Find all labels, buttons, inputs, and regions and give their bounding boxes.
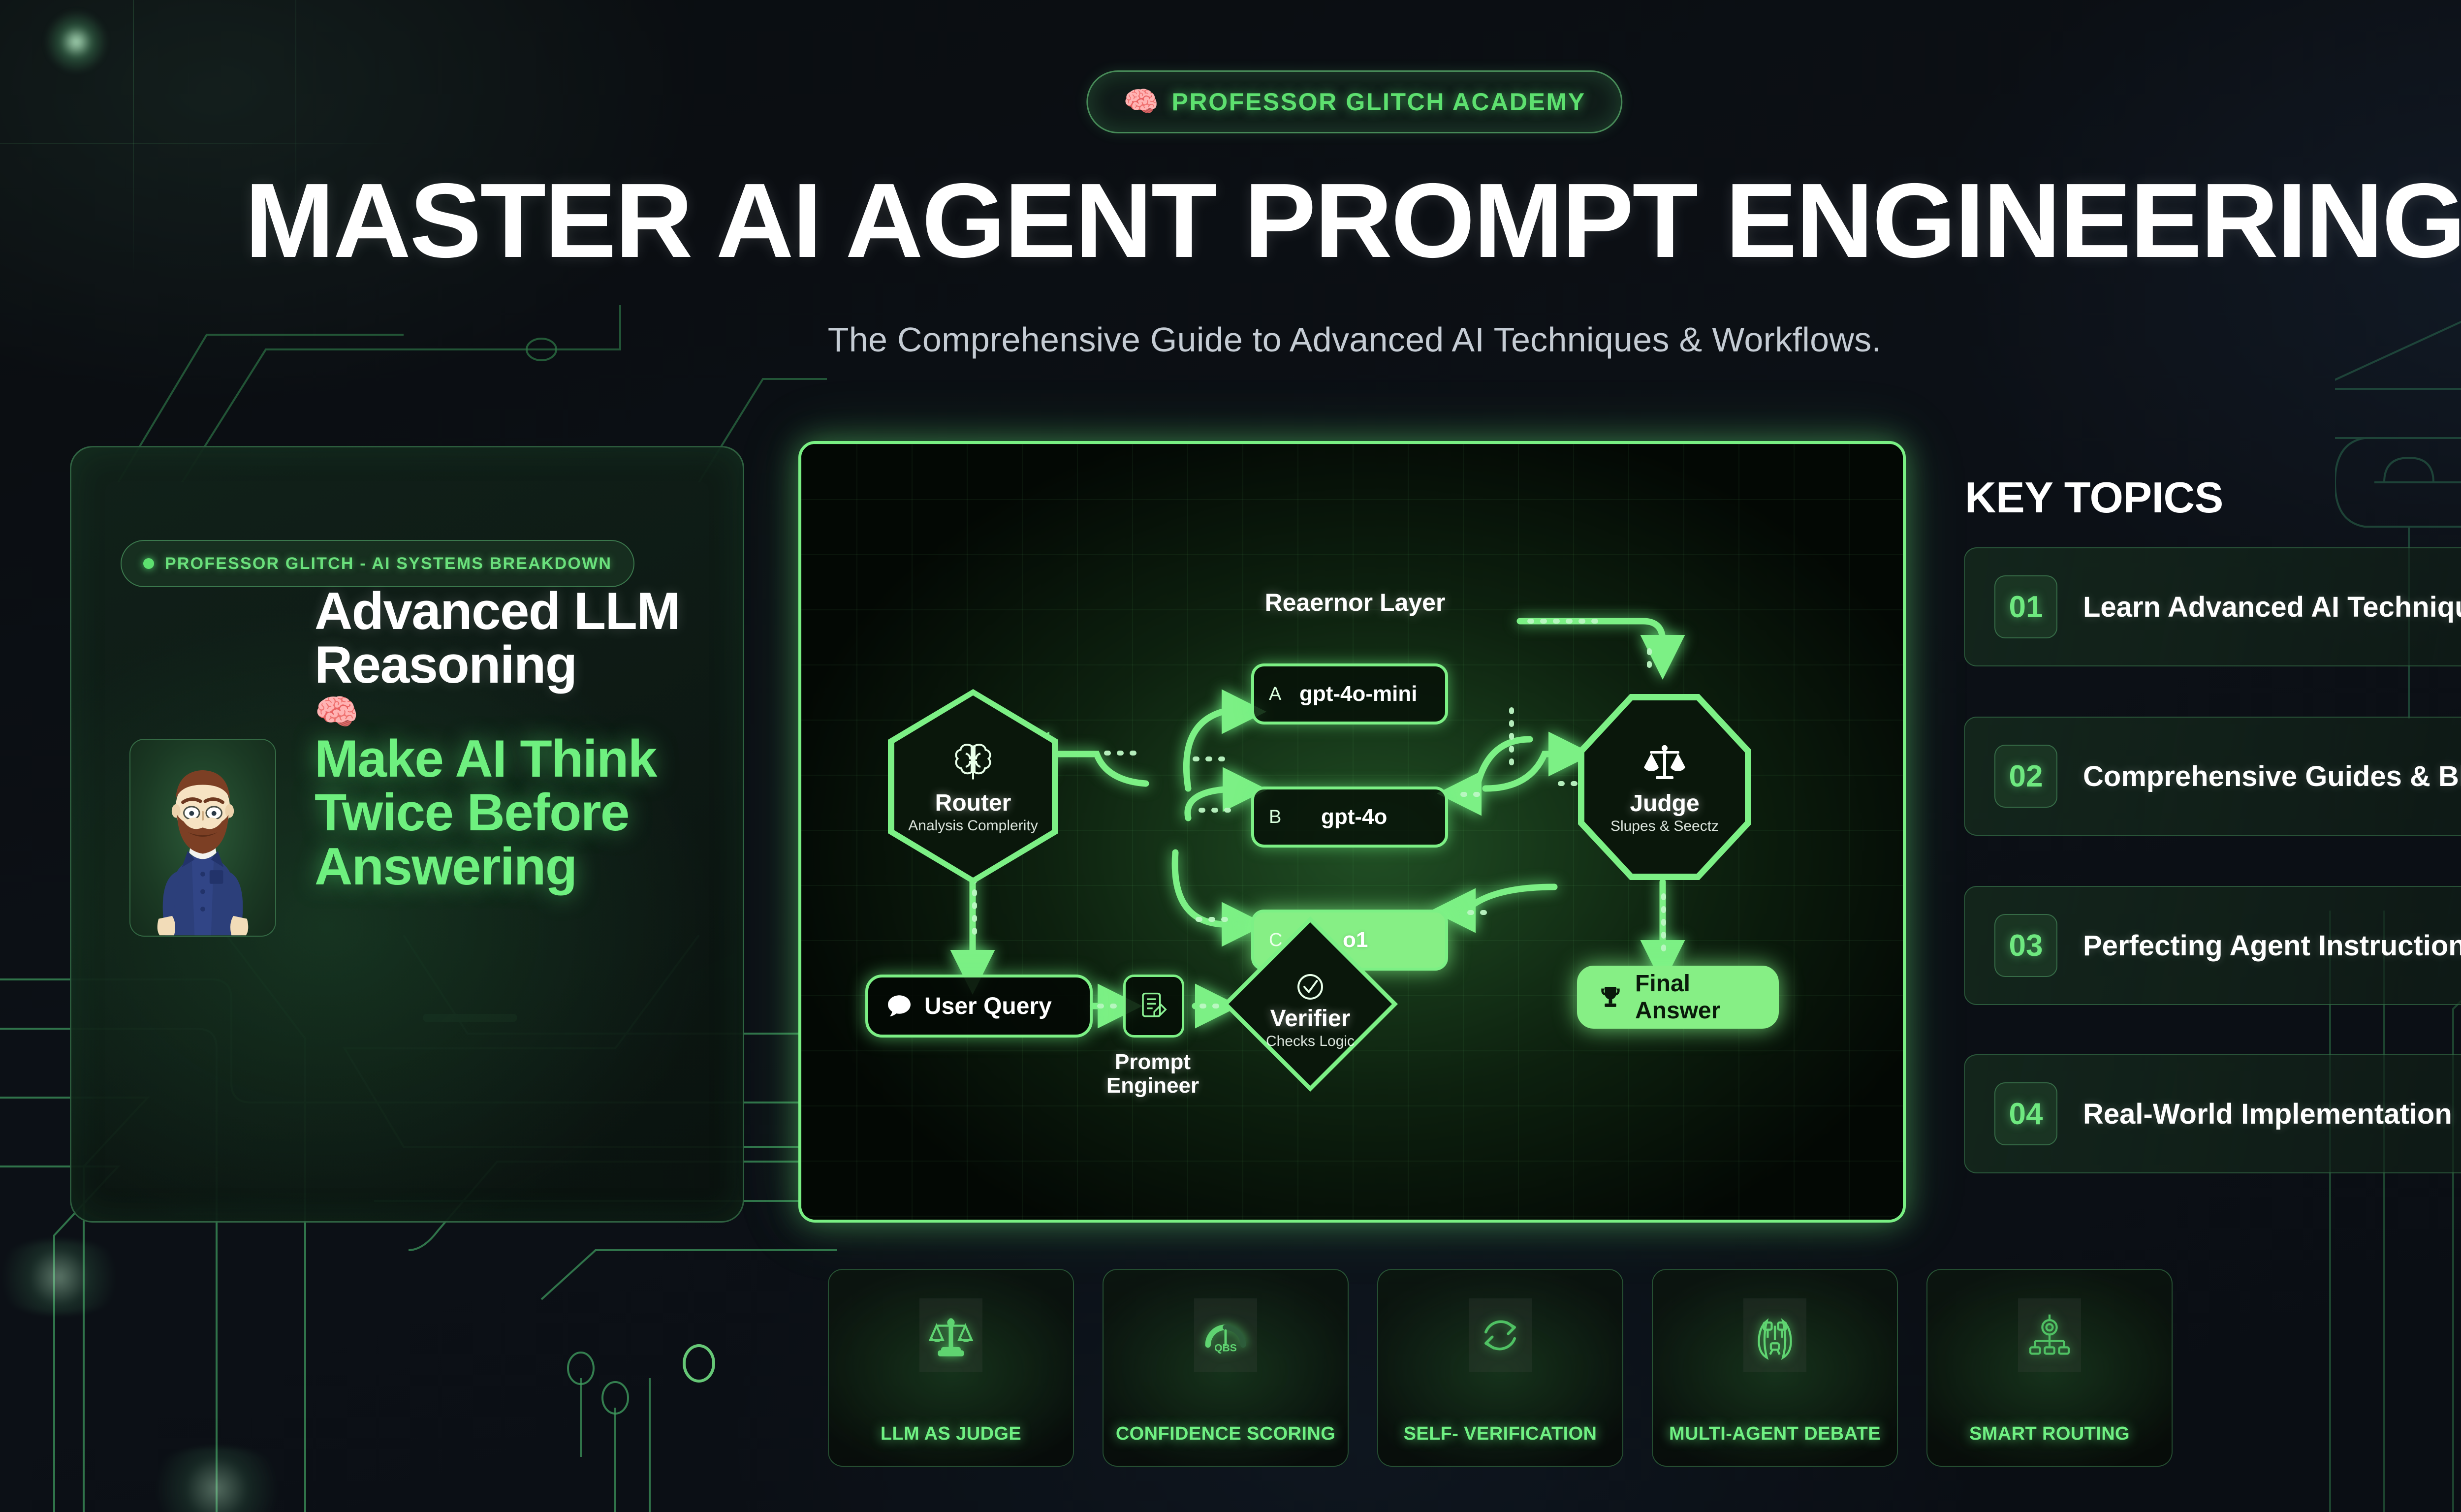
check-circle-icon xyxy=(1293,969,1328,1005)
key-topic-item-4[interactable]: 04 Real-World Implementation xyxy=(1964,1054,2461,1173)
key-topic-label-2: Comprehensive Guides & Blueprints xyxy=(2083,760,2461,793)
poster-canvas: 🧠 PROFESSOR GLITCH ACADEMY MASTER AI AGE… xyxy=(0,0,2461,1512)
feature-label-5: SMART ROUTING xyxy=(1927,1422,2172,1445)
professor-glitch-avatar-icon xyxy=(130,740,275,936)
breakdown-copy: Advanced LLM Reasoning 🧠 Make AI Think T… xyxy=(315,584,728,893)
page-title: MASTER AI AGENT PROMPT ENGINEERING xyxy=(0,167,2461,273)
node-user-query[interactable]: User Query xyxy=(865,975,1093,1038)
model-option-a-key: A xyxy=(1269,684,1299,705)
node-judge-subtitle: Slupes & Seectz xyxy=(1610,818,1719,835)
key-topic-number-1: 01 xyxy=(1994,575,2057,638)
node-router-title: Router xyxy=(935,791,1011,816)
status-dot-icon xyxy=(143,558,154,569)
diagram-background: Reaernor Layer Router Analysis Complerit… xyxy=(801,444,1903,1220)
node-final-answer-label: Final Answer xyxy=(1635,970,1759,1024)
gauge-icon-feature: QBS xyxy=(1194,1298,1257,1372)
key-topic-number-2: 02 xyxy=(1994,745,2057,808)
scales-icon xyxy=(1641,739,1688,787)
key-topic-number-4: 04 xyxy=(1994,1082,2057,1145)
model-option-a-name: gpt-4o-mini xyxy=(1299,682,1418,706)
key-topic-item-2[interactable]: 02 Comprehensive Guides & Blueprints xyxy=(1964,717,2461,836)
model-option-b[interactable]: B gpt-4o xyxy=(1251,787,1448,848)
feature-label-4: MULTI-AGENT DEBATE xyxy=(1653,1422,1897,1445)
feature-card-smart-routing[interactable]: SMART ROUTING xyxy=(1926,1269,2173,1467)
node-final-answer[interactable]: Final Answer xyxy=(1577,966,1779,1029)
node-verifier-title: Verifier xyxy=(1270,1007,1351,1031)
node-verifier-subtitle: Checks Logic xyxy=(1266,1033,1355,1050)
feature-card-llm-as-judge[interactable]: LLM AS JUDGE xyxy=(828,1269,1074,1467)
academy-badge[interactable]: 🧠 PROFESSOR GLITCH ACADEMY xyxy=(1086,70,1622,133)
breakdown-kicker-label: PROFESSOR GLITCH - AI SYSTEMS BREAKDOWN xyxy=(165,554,612,573)
brain-emoji-icon-2: 🧠 xyxy=(315,694,728,730)
breakdown-heading-white: Advanced LLM Reasoning xyxy=(315,584,728,692)
breakdown-card: PROFESSOR GLITCH - AI SYSTEMS BREAKDOWN xyxy=(70,446,744,1223)
key-topic-item-3[interactable]: 03 Perfecting Agent Instructions xyxy=(1964,886,2461,1005)
svg-text:QBS: QBS xyxy=(1214,1343,1237,1354)
two-agents-icon-feature xyxy=(1743,1298,1806,1372)
chat-bubble-icon xyxy=(885,992,914,1020)
academy-badge-label: PROFESSOR GLITCH ACADEMY xyxy=(1172,88,1586,116)
key-topic-item-1[interactable]: 01 Learn Advanced AI Techniques xyxy=(1964,547,2461,666)
breakdown-heading-green: Make AI Think Twice Before Answering xyxy=(315,732,728,893)
scales-icon-feature xyxy=(919,1298,982,1372)
brain-icon xyxy=(949,739,997,786)
feature-card-confidence-scoring[interactable]: QBS CONFIDENCE SCORING xyxy=(1103,1269,1349,1467)
key-topic-number-3: 03 xyxy=(1994,914,2057,977)
node-prompt-engineer-caption: Prompt Engineer xyxy=(1084,1050,1222,1097)
routing-node-icon-feature xyxy=(2018,1298,2081,1372)
model-option-b-name: gpt-4o xyxy=(1321,805,1387,829)
reasoner-layer-title: Reaernor Layer xyxy=(1247,588,1463,617)
feature-card-multi-agent-debate[interactable]: MULTI-AGENT DEBATE xyxy=(1652,1269,1898,1467)
breakdown-kicker: PROFESSOR GLITCH - AI SYSTEMS BREAKDOWN xyxy=(121,540,634,587)
feature-label-1: LLM AS JUDGE xyxy=(829,1422,1073,1445)
key-topic-label-4: Real-World Implementation xyxy=(2083,1098,2452,1131)
node-prompt-engineer[interactable] xyxy=(1123,975,1184,1038)
document-edit-icon xyxy=(1136,988,1172,1024)
node-verifier[interactable]: Verifier Checks Logic xyxy=(1223,916,1398,1092)
node-user-query-label: User Query xyxy=(924,993,1052,1020)
key-topic-label-1: Learn Advanced AI Techniques xyxy=(2083,591,2461,624)
brain-emoji-icon: 🧠 xyxy=(1123,88,1159,116)
model-option-b-key: B xyxy=(1269,807,1299,828)
node-judge[interactable]: Judge Slupes & Seectz xyxy=(1578,694,1751,880)
refresh-cycle-icon-feature xyxy=(1469,1298,1532,1372)
feature-label-3: SELF- VERIFICATION xyxy=(1378,1422,1622,1445)
model-option-a[interactable]: A gpt-4o-mini xyxy=(1251,663,1448,724)
node-router[interactable]: Router Analysis Complerity xyxy=(888,689,1058,884)
feature-card-self-verification[interactable]: SELF- VERIFICATION xyxy=(1377,1269,1623,1467)
avatar xyxy=(129,739,276,937)
feature-label-2: CONFIDENCE SCORING xyxy=(1104,1422,1348,1445)
agent-flow-diagram: Reaernor Layer Router Analysis Complerit… xyxy=(798,441,1906,1223)
node-judge-title: Judge xyxy=(1630,791,1699,816)
key-topics-heading: KEY TOPICS xyxy=(1965,472,2223,523)
trophy-icon xyxy=(1597,983,1624,1011)
page-subtitle: The Comprehensive Guide to Advanced AI T… xyxy=(0,320,2461,359)
key-topic-label-3: Perfecting Agent Instructions xyxy=(2083,929,2461,962)
node-router-subtitle: Analysis Complerity xyxy=(908,818,1038,834)
